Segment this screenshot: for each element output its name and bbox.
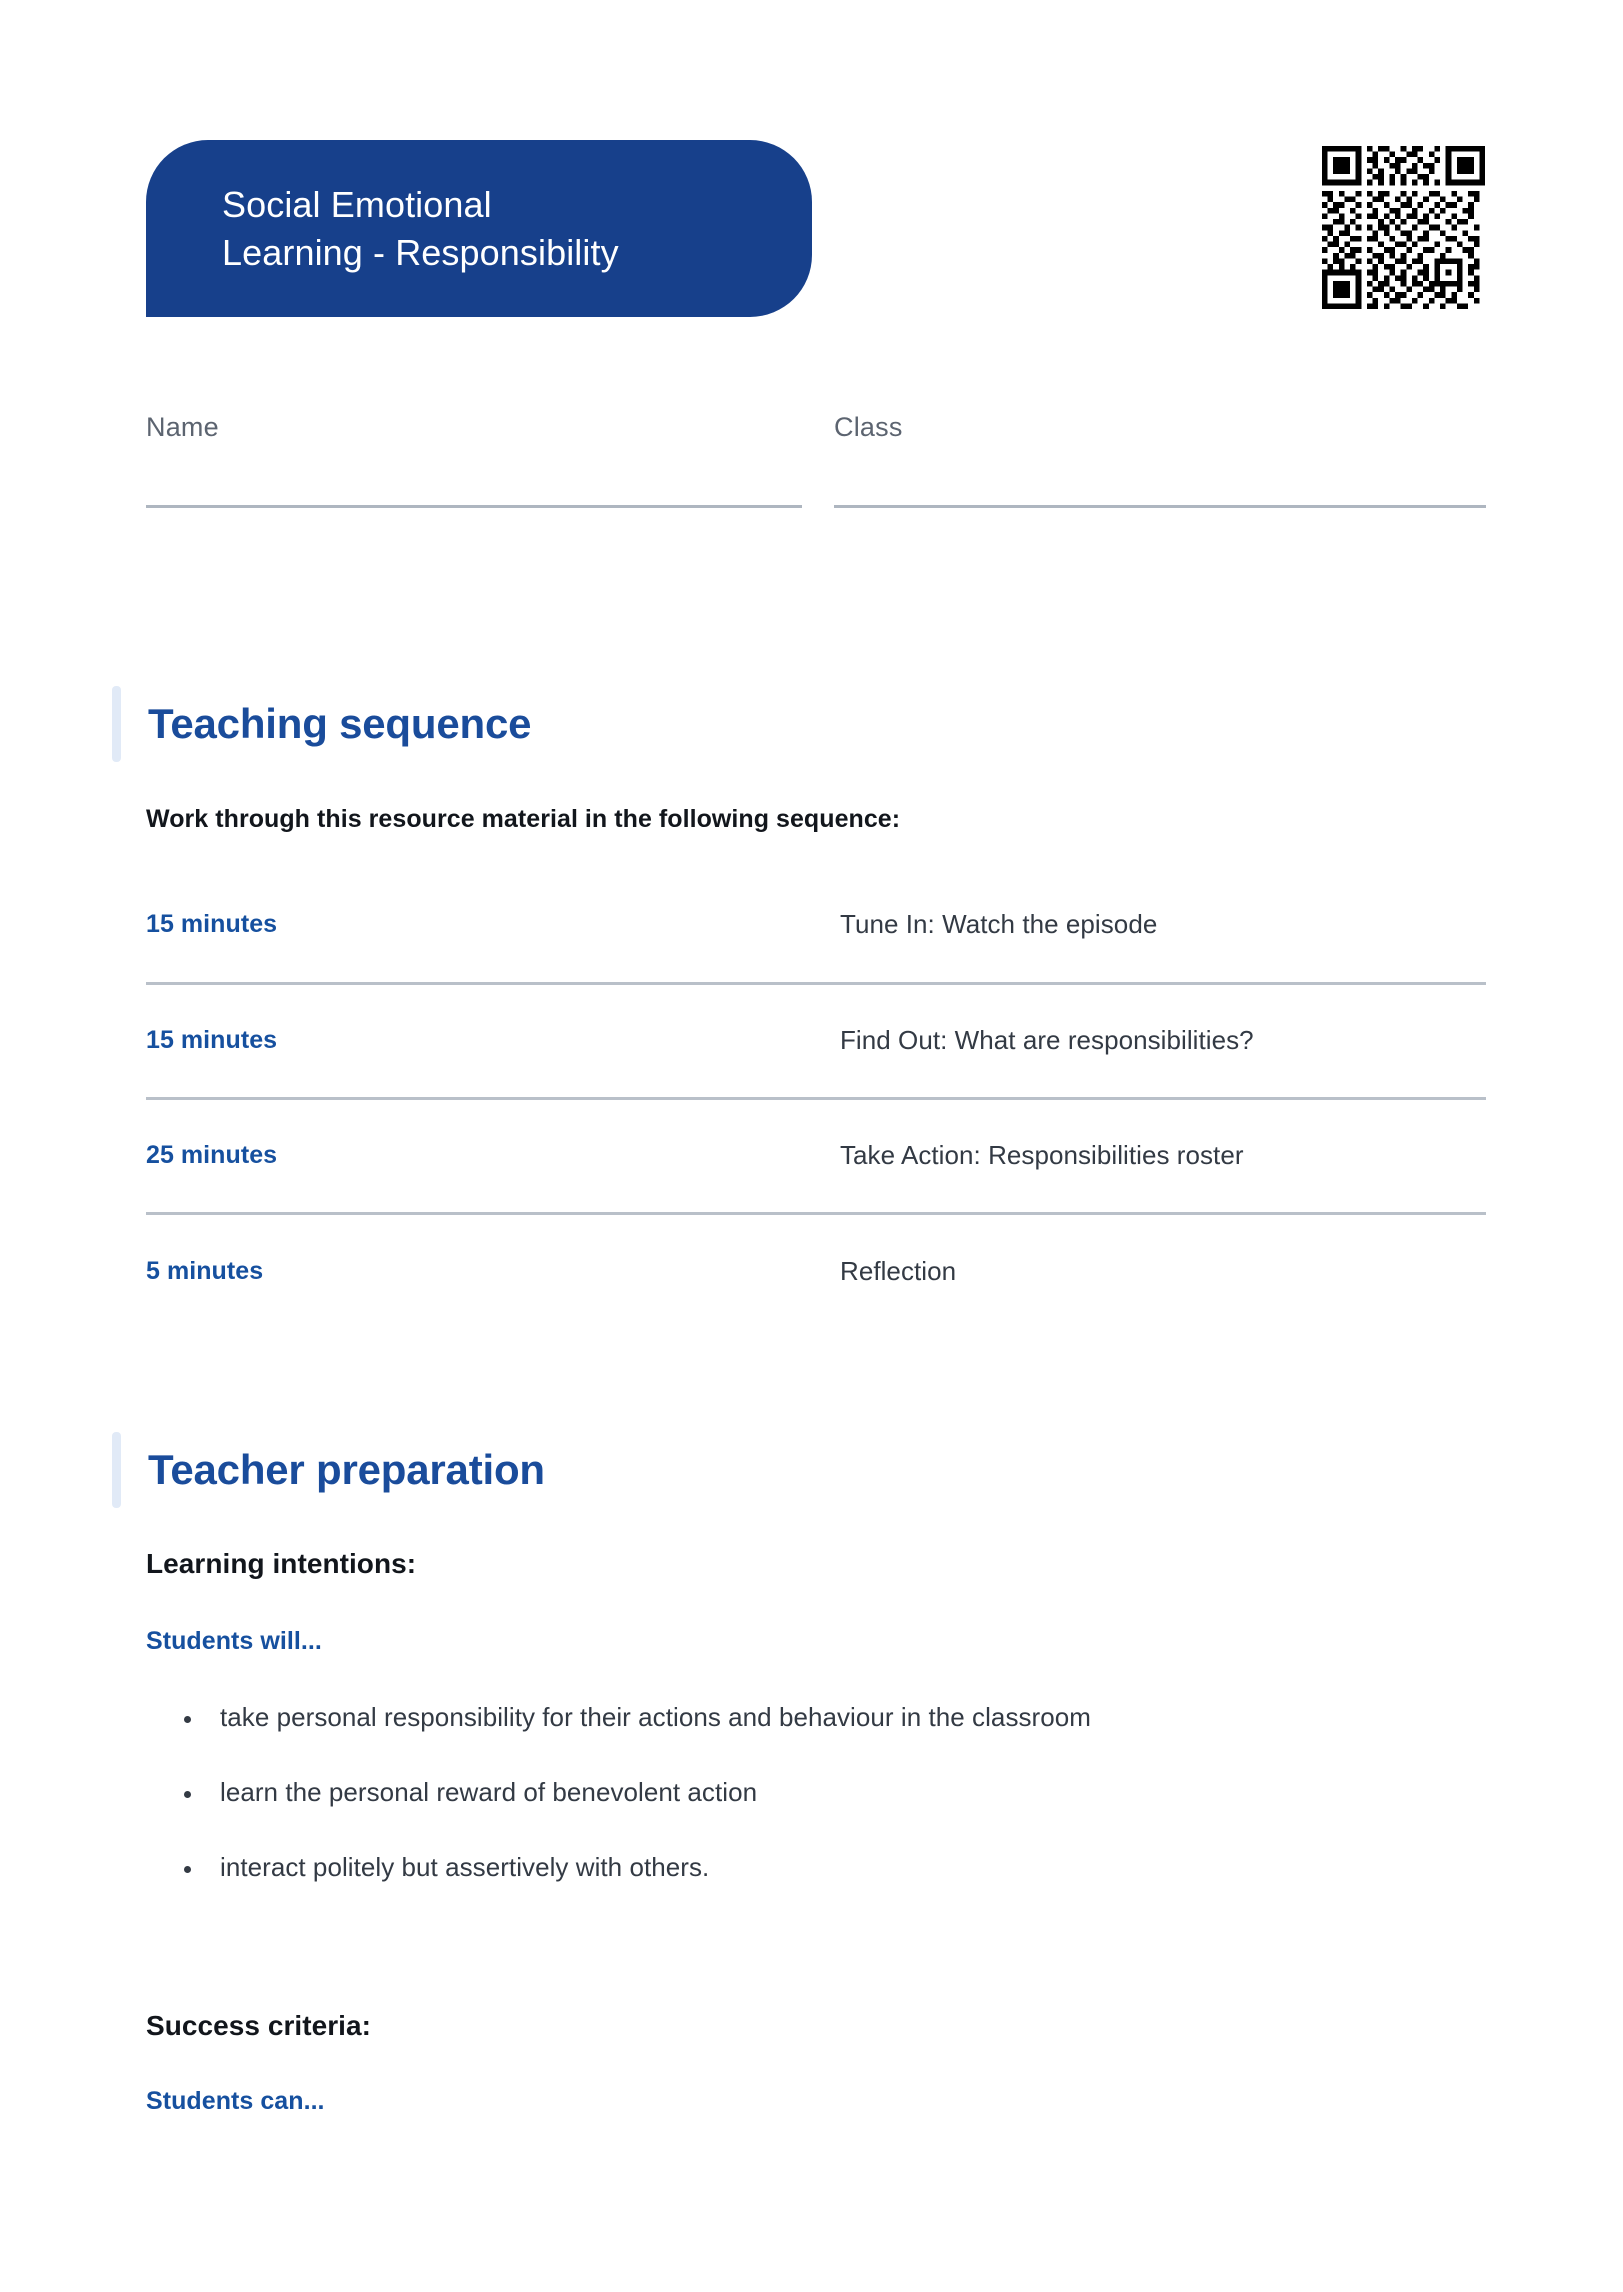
row-activity: Reflection [840,1213,1486,1328]
list-item: take personal responsibility for their a… [168,1700,1488,1735]
row-activity: Tune In: Watch the episode [840,868,1486,983]
page-header: Social Emotional Learning - Responsibili… [0,0,1623,330]
teacher-preparation-title: Teacher preparation [148,1445,545,1495]
teaching-sequence-table: 15 minutes Tune In: Watch the episode 15… [146,868,1486,1328]
learning-intentions-label: Learning intentions: [146,1548,416,1580]
page-title: Social Emotional Learning - Responsibili… [222,181,619,276]
name-field-group: Name [146,412,818,508]
table-row: 25 minutes Take Action: Responsibilities… [146,1098,1486,1213]
learning-intentions-list: take personal responsibility for their a… [168,1700,1488,1885]
qr-code[interactable] [1322,146,1485,309]
heading-accent-bar [112,1432,121,1508]
teacher-preparation-heading: Teacher preparation [112,1432,545,1508]
table-row: 15 minutes Tune In: Watch the episode [146,868,1486,983]
name-input-line[interactable] [146,505,802,508]
table-row: 5 minutes Reflection [146,1213,1486,1328]
title-banner: Social Emotional Learning - Responsibili… [146,140,812,317]
teaching-sequence-heading: Teaching sequence [112,686,531,762]
name-label: Name [146,412,802,443]
class-input-line[interactable] [834,505,1486,508]
class-label: Class [834,412,1486,443]
list-item: learn the personal reward of benevolent … [168,1775,1488,1810]
class-field-group: Class [818,412,1486,508]
table-row: 15 minutes Find Out: What are responsibi… [146,983,1486,1098]
row-duration: 15 minutes [146,868,840,983]
students-can-subtitle: Students can... [146,2087,325,2116]
success-criteria-label: Success criteria: [146,2010,371,2042]
list-item: interact politely but assertively with o… [168,1850,1488,1885]
heading-accent-bar [112,686,121,762]
students-will-subtitle: Students will... [146,1627,322,1656]
teaching-sequence-lead-in: Work through this resource material in t… [146,805,900,834]
row-duration: 15 minutes [146,983,840,1098]
row-duration: 25 minutes [146,1098,840,1213]
worksheet-page: Social Emotional Learning - Responsibili… [0,0,1623,2292]
row-activity: Find Out: What are responsibilities? [840,983,1486,1098]
teaching-sequence-title: Teaching sequence [148,699,531,749]
row-duration: 5 minutes [146,1213,840,1328]
student-fields: Name Class [146,412,1486,508]
row-activity: Take Action: Responsibilities roster [840,1098,1486,1213]
